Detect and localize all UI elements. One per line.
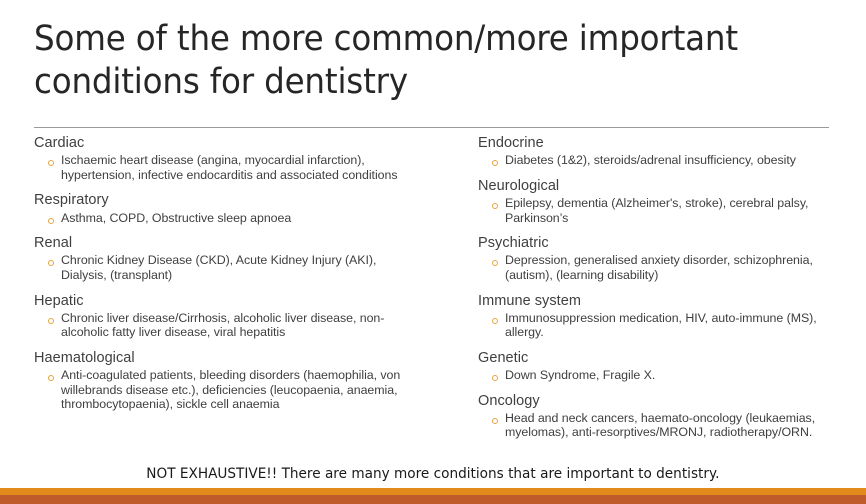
title-divider <box>34 127 829 128</box>
bottom-accent-bar-light <box>0 488 866 495</box>
condition-group-oncology: Oncology Head and neck cancers, haemato-… <box>478 392 852 440</box>
group-heading: Haematological <box>34 349 432 367</box>
list-item: Head and neck cancers, haemato-oncology … <box>478 411 852 440</box>
list-item-text: Epilepsy, dementia (Alzheimer's, stroke)… <box>505 196 852 225</box>
condition-group-psychiatric: Psychiatric Depression, generalised anxi… <box>478 234 852 282</box>
list-item: Depression, generalised anxiety disorder… <box>478 253 852 282</box>
group-heading: Neurological <box>478 177 852 195</box>
left-column: Cardiac Ischaemic heart disease (angina,… <box>0 134 440 412</box>
list-item: Diabetes (1&2), steroids/adrenal insuffi… <box>478 153 852 168</box>
bullet-circle-icon <box>492 375 503 381</box>
list-item: Epilepsy, dementia (Alzheimer's, stroke)… <box>478 196 852 225</box>
bullet-circle-icon <box>48 218 59 224</box>
bullet-circle-icon <box>48 318 59 324</box>
condition-group-cardiac: Cardiac Ischaemic heart disease (angina,… <box>34 134 432 182</box>
condition-group-renal: Renal Chronic Kidney Disease (CKD), Acut… <box>34 234 432 282</box>
group-heading: Endocrine <box>478 134 852 152</box>
content-columns: Cardiac Ischaemic heart disease (angina,… <box>0 134 866 440</box>
group-heading: Immune system <box>478 292 852 310</box>
group-heading: Psychiatric <box>478 234 852 252</box>
list-item: Down Syndrome, Fragile X. <box>478 368 852 383</box>
group-heading: Hepatic <box>34 292 432 310</box>
list-item: Immunosuppression medication, HIV, auto-… <box>478 311 852 340</box>
group-heading: Oncology <box>478 392 852 410</box>
group-heading: Cardiac <box>34 134 432 152</box>
footer-note-text: NOT EXHAUSTIVE!! There are many more con… <box>146 466 719 483</box>
condition-group-hepatic: Hepatic Chronic liver disease/Cirrhosis,… <box>34 292 432 340</box>
footer-note: NOT EXHAUSTIVE!! There are many more con… <box>0 466 866 483</box>
list-item-text: Anti-coagulated patients, bleeding disor… <box>61 368 413 412</box>
list-item-text: Diabetes (1&2), steroids/adrenal insuffi… <box>505 153 852 168</box>
title-block: Some of the more common/more important c… <box>34 18 832 104</box>
condition-group-endocrine: Endocrine Diabetes (1&2), steroids/adren… <box>478 134 852 168</box>
group-heading: Genetic <box>478 349 852 367</box>
condition-group-respiratory: Respiratory Asthma, COPD, Obstructive sl… <box>34 191 432 225</box>
bullet-circle-icon <box>492 318 503 324</box>
list-item-text: Ischaemic heart disease (angina, myocard… <box>61 153 413 182</box>
bullet-circle-icon <box>492 160 503 166</box>
bullet-circle-icon <box>48 160 59 166</box>
condition-group-immune-system: Immune system Immunosuppression medicati… <box>478 292 852 340</box>
condition-group-haematological: Haematological Anti-coagulated patients,… <box>34 349 432 412</box>
bullet-circle-icon <box>48 375 59 381</box>
bullet-circle-icon <box>492 418 503 424</box>
list-item: Anti-coagulated patients, bleeding disor… <box>34 368 432 412</box>
group-heading: Renal <box>34 234 432 252</box>
list-item-text: Chronic Kidney Disease (CKD), Acute Kidn… <box>61 253 413 282</box>
bottom-accent-bar-dark <box>0 495 866 504</box>
list-item-text: Chronic liver disease/Cirrhosis, alcohol… <box>61 311 413 340</box>
bullet-circle-icon <box>492 203 503 209</box>
list-item: Ischaemic heart disease (angina, myocard… <box>34 153 432 182</box>
slide: Some of the more common/more important c… <box>0 0 866 504</box>
bullet-circle-icon <box>48 260 59 266</box>
page-title: Some of the more common/more important c… <box>34 18 776 104</box>
list-item-text: Depression, generalised anxiety disorder… <box>505 253 852 282</box>
list-item: Chronic liver disease/Cirrhosis, alcohol… <box>34 311 432 340</box>
right-column: Endocrine Diabetes (1&2), steroids/adren… <box>440 134 866 440</box>
list-item-text: Head and neck cancers, haemato-oncology … <box>505 411 852 440</box>
list-item-text: Down Syndrome, Fragile X. <box>505 368 852 383</box>
list-item: Chronic Kidney Disease (CKD), Acute Kidn… <box>34 253 432 282</box>
condition-group-neurological: Neurological Epilepsy, dementia (Alzheim… <box>478 177 852 225</box>
list-item-text: Asthma, COPD, Obstructive sleep apnoea <box>61 211 413 226</box>
list-item: Asthma, COPD, Obstructive sleep apnoea <box>34 211 432 226</box>
group-heading: Respiratory <box>34 191 432 209</box>
bottom-accent-bar <box>0 488 866 504</box>
condition-group-genetic: Genetic Down Syndrome, Fragile X. <box>478 349 852 383</box>
list-item-text: Immunosuppression medication, HIV, auto-… <box>505 311 852 340</box>
bullet-circle-icon <box>492 260 503 266</box>
